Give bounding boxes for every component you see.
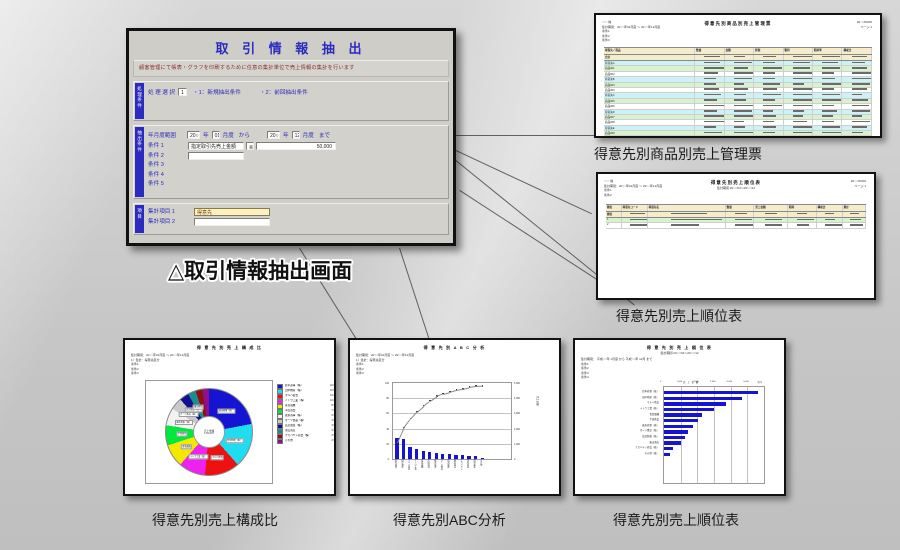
table-cell: 順位 (606, 212, 622, 217)
cell-value-placeholder (763, 126, 775, 128)
table-cell (695, 66, 724, 70)
cell-value-placeholder (704, 62, 719, 64)
cell-value-placeholder (852, 78, 871, 80)
cell-value-placeholder (704, 88, 718, 90)
document-page: ○○○ 株 集計期間：20○○年01月度 ～ 20○○年12月度 条件1 条件2… (596, 15, 880, 136)
cell-value-placeholder (852, 88, 867, 90)
table-cell (842, 66, 871, 70)
cell-value-placeholder (793, 78, 813, 80)
thumbnail-abc-analysis[interactable]: 得 意 先 別 A B C 分 析 集計期間：20○○年01月度 ～ 20○○年… (348, 338, 561, 496)
cell-value-placeholder (793, 56, 813, 58)
head-line-1: 集計期間：20○○年01月度 ～ 20○○年12月度 (131, 353, 189, 358)
table-cell: 合計 (604, 55, 695, 60)
axis-tick-x: イトウ工業 (413, 459, 417, 470)
table-cell (842, 104, 871, 108)
table-cell (784, 72, 813, 76)
cell-value-placeholder (852, 83, 870, 85)
table-cell (725, 126, 754, 130)
table-cell (754, 61, 783, 65)
cell-value-placeholder (735, 213, 747, 215)
condition-label-1: 条件 1 (148, 142, 188, 150)
cell-value-placeholder (735, 224, 755, 226)
cell-value-placeholder (822, 121, 834, 123)
axis-tick-x: 0 (660, 381, 661, 383)
table-cell (817, 218, 843, 222)
cell-value-placeholder (797, 219, 814, 221)
table-cell (784, 120, 813, 124)
cell-value-placeholder (704, 72, 718, 74)
cell-value-placeholder (704, 67, 724, 69)
table-cell (695, 104, 724, 108)
table-cell: 商品005 (604, 99, 695, 103)
from-month-suffix: 月度 (223, 131, 234, 139)
cell-value-placeholder (734, 72, 754, 74)
axis-tick-right: 1,000 (514, 443, 520, 446)
cell-value-placeholder (734, 62, 752, 64)
cell-value-placeholder (734, 88, 748, 90)
total-item-label-1: 集計項目 1 (148, 208, 190, 216)
table-cell (813, 77, 842, 81)
cell-value-placeholder (763, 83, 780, 85)
cell-value-placeholder (704, 115, 724, 117)
pareto-line-segment (469, 386, 476, 388)
table-cell (622, 218, 648, 222)
head-line-4: 条件2 (604, 193, 662, 198)
table-cell: 商品008 (604, 120, 695, 124)
panel-extract-condition: 抽出条件 年月度範囲 20○○ 年 01 月度 から 20○○ 年 12 月度 … (133, 125, 449, 199)
cell-value-placeholder (852, 72, 872, 74)
process-select-label: 処 理 選 択 (148, 88, 175, 96)
table-cell (817, 212, 843, 217)
table-cell (648, 223, 726, 227)
to-year-input[interactable]: 20○○ (267, 131, 280, 139)
table-cell (695, 72, 724, 76)
cell-value-placeholder (734, 126, 745, 128)
cell-value-placeholder (630, 213, 645, 215)
pie-center-hole: 売上金額1,234,567 (193, 416, 225, 448)
column-header: 構成比 (817, 205, 843, 211)
cell-value-placeholder (763, 99, 774, 101)
cell-value-placeholder (763, 88, 776, 90)
transaction-extract-window[interactable]: 取 引 情 報 抽 出 顧客管理にて帳表・グラフを印刷するために任意の集計単位で… (126, 28, 456, 246)
pie-slice-label: 鈴木商事（株） (217, 409, 235, 414)
table-cell (784, 104, 813, 108)
to-month-suffix: 月度 (303, 131, 314, 139)
table-cell (842, 115, 871, 119)
pie-slice-label: 森永商事（株） (175, 420, 193, 425)
from-year-input[interactable]: 20○○ (187, 131, 200, 139)
cell-value-placeholder (793, 105, 813, 107)
table-cell (754, 223, 788, 227)
table-cell (784, 126, 813, 130)
table-cell (725, 120, 754, 124)
cell-value-placeholder (793, 67, 810, 69)
condition-op-1[interactable]: ≧ (246, 142, 254, 150)
cell-value-placeholder (671, 224, 699, 226)
table-cell (784, 131, 813, 135)
rank-bar (664, 397, 742, 400)
total-item-input-1[interactable]: 得意先 (194, 208, 270, 216)
table-cell (726, 218, 755, 222)
cell-value-placeholder (852, 121, 871, 123)
cell-value-placeholder (852, 67, 867, 69)
cell-value-placeholder (793, 83, 804, 85)
from-year-suffix: 年 (203, 131, 209, 139)
cell-value-placeholder (765, 213, 777, 215)
doc-title: 得 意 先 別 A B C 分 析 (350, 345, 559, 351)
pareto-line-segment (417, 406, 424, 412)
cell-value-placeholder (852, 115, 863, 117)
axis-tick-x: ナカバヤシ (459, 459, 463, 470)
table-cell (842, 88, 871, 92)
table-cell (648, 212, 726, 217)
cell-value-placeholder (852, 126, 868, 128)
table-cell (695, 110, 724, 114)
rank-bar (664, 391, 758, 394)
axis-tick-right: 4,000 (514, 397, 520, 400)
cell-value-placeholder (734, 110, 753, 112)
rank-category-label: 鈴木商事（株） (642, 389, 659, 393)
table-cell: 得意先B (604, 77, 695, 81)
cell-value-placeholder (793, 88, 812, 90)
document-page: 得 意 先 別 売 上 順 位 表 集計期間 20○○/01～20○○/12 集… (575, 340, 784, 494)
cell-value-placeholder (763, 132, 775, 134)
rank-bar (664, 441, 681, 444)
doc-right-lines: 20○○/00/00 ページ 1 (857, 20, 872, 30)
cell-value-placeholder (822, 62, 837, 64)
table-cell (695, 115, 724, 119)
condition-label-list: 条件 1 条件 2 条件 3 条件 4 条件 5 (148, 142, 188, 188)
gridline (393, 444, 511, 445)
axis-tick-right: 5,000 (514, 382, 520, 385)
axis-tick-x: 5,000 (743, 381, 748, 383)
caption-abc-analysis: 得意先別ABC分析 (393, 510, 506, 530)
gridline (393, 429, 511, 430)
table-cell (784, 83, 813, 87)
cell-value-placeholder (793, 62, 810, 64)
table-cell (788, 223, 817, 227)
table-cell (813, 115, 842, 119)
cell-value-placeholder (763, 110, 773, 112)
axis-tick-x: マルハ商会 (406, 459, 410, 470)
cell-value-placeholder (763, 78, 775, 80)
table-cell (695, 77, 724, 81)
cell-value-placeholder (793, 115, 803, 117)
axis-tick-x: 甲府商会 (465, 459, 469, 468)
table-cell: 商品009 (604, 131, 695, 135)
right-line-2: ページ 1 (851, 184, 866, 189)
cell-value-placeholder (735, 219, 752, 221)
table-cell: 得意先C (604, 93, 695, 97)
table-cell (842, 131, 871, 135)
axis-tick-left: 0 (388, 458, 389, 461)
table-cell (784, 110, 813, 114)
cell-value-placeholder (822, 78, 835, 80)
cell-value-placeholder (822, 83, 842, 85)
pie-slice-label: イトウ工業（株） (188, 454, 208, 459)
rank-bar (664, 419, 698, 422)
cell-value-placeholder (822, 115, 833, 117)
table-cell (725, 93, 754, 97)
table-cell: 商品002 (604, 72, 695, 76)
table-cell (813, 66, 842, 70)
rank-bar (664, 413, 702, 416)
cell-value-placeholder (793, 132, 812, 134)
cell-value-placeholder (630, 224, 648, 226)
table-cell (842, 55, 871, 60)
cell-value-placeholder (763, 56, 776, 58)
process-option-previous[interactable]: ・2：前回抽出条件 (260, 88, 308, 96)
connector-line-to-sheet (456, 135, 596, 136)
table-cell: 得意先D (604, 110, 695, 114)
window-description: 顧客管理にて帳表・グラフを印刷するために任意の集計単位で売上情報の集計を行います (133, 60, 449, 77)
column-header: 粗利 (788, 205, 817, 211)
pie-slice-label: 青島電機 (181, 444, 192, 449)
table-cell (784, 61, 813, 65)
table-cell (842, 83, 871, 87)
cell-value-placeholder (765, 224, 783, 226)
cell-value-placeholder (704, 105, 724, 107)
rank-category-label: 森永商事（株） (642, 423, 659, 427)
pareto-x-labels: 鈴木商事田中物産マルハ商会イトウ工業青島電機平田商会森永商事オーツ食品長沢製菓東… (392, 459, 510, 494)
cell-value-placeholder (704, 132, 721, 134)
axis-tick-left: 100 (385, 382, 389, 385)
table-cell: 商品007 (604, 115, 695, 119)
cell-value-placeholder (763, 62, 775, 64)
axis-tick-left: 80 (386, 397, 389, 400)
process-option-new[interactable]: ・1：新規抽出条件 (193, 88, 241, 96)
pareto-bar (408, 447, 411, 459)
table-cell (842, 72, 871, 76)
thumbnail-sales-management-sheet[interactable]: ○○○ 株 集計期間：20○○年01月度 ～ 20○○年12月度 条件1 条件2… (594, 13, 882, 138)
table-cell (813, 55, 842, 60)
right-line-2: ページ 1 (857, 25, 872, 30)
rank-category-label: 青島電機 (649, 412, 659, 416)
cell-value-placeholder (734, 99, 746, 101)
gridline-vertical (731, 387, 732, 483)
rank-bar (664, 430, 688, 433)
panel-tab-extract: 抽出条件 (135, 127, 144, 197)
window-title: 取 引 情 報 抽 出 (133, 34, 449, 60)
process-select-input[interactable]: 1 (178, 88, 187, 96)
thumbnail-sales-rank-bar[interactable]: 得 意 先 別 売 上 順 位 表 集計期間 20○○/01～20○○/12 集… (573, 338, 786, 496)
cell-value-placeholder (852, 56, 867, 58)
cell-value-placeholder (793, 99, 813, 101)
table-cell (725, 99, 754, 103)
pie-slice-label: 東山商店 (193, 405, 204, 410)
cell-value-placeholder (793, 110, 804, 112)
cell-value-placeholder (734, 121, 744, 123)
doc-title: 得意先別商品別売上管理票 (596, 21, 880, 27)
pareto-bar (415, 449, 418, 459)
rank-category-label: 平田商会 (649, 417, 659, 421)
pie-chart-frame: 売上金額1,234,567鈴木商事（株）田中物産（株）マルハ商会イトウ工業（株）… (145, 380, 273, 484)
legend-label: その他 (285, 439, 329, 444)
table-cell (725, 88, 754, 92)
cell-value-placeholder (734, 83, 744, 85)
cell-value-placeholder (763, 67, 782, 69)
caption-sales-composition-pie: 得意先別売上構成比 (152, 510, 278, 530)
cell-value-placeholder (852, 105, 869, 107)
axis-tick-left: 20 (386, 443, 389, 446)
document-page: 得 意 先 別 A B C 分 析 集計期間：20○○年01月度 ～ 20○○年… (350, 340, 559, 494)
table-cell (784, 55, 813, 60)
table-cell (695, 126, 724, 130)
table-cell (695, 99, 724, 103)
axis-tick-x: 西村産業 (472, 459, 476, 468)
cell-value-placeholder (671, 219, 721, 221)
table-cell (695, 83, 724, 87)
table-cell: 2 (606, 223, 622, 227)
cell-value-placeholder (734, 105, 754, 107)
table-cell (725, 131, 754, 135)
table-cell (725, 61, 754, 65)
table-cell: 商品004 (604, 88, 695, 92)
table-cell: 1 (606, 218, 622, 222)
table-cell (813, 120, 842, 124)
connector-line-diag-1 (459, 190, 611, 289)
thumbnail-sales-composition-pie[interactable]: 得 意 先 別 売 上 構 成 比 集計期間：20○○年01月度 ～ 20○○年… (123, 338, 336, 496)
panel-process-condition: 処理条件 処 理 選 択 1 ・1：新規抽出条件 ・2：前回抽出条件 (133, 81, 449, 121)
caption-sales-management-sheet: 得意先別商品別売上管理票 (594, 144, 762, 164)
table-cell (695, 88, 724, 92)
table-cell: 商品006 (604, 104, 695, 108)
panel-tab-item: 項目 (135, 205, 144, 233)
cell-value-placeholder (852, 132, 864, 134)
cell-value-placeholder (825, 224, 842, 226)
table-cell (842, 126, 871, 130)
cell-value-placeholder (734, 56, 745, 58)
table-cell (754, 77, 783, 81)
thumbnail-sales-rank-report[interactable]: ○○○ 株 集計期間：20○○年01月度 ～ 20○○年12月度 条件1 条件2… (596, 172, 876, 300)
axis-tick-x: 4,000 (727, 381, 732, 383)
doc-right-lines: 20○○/00/00 ページ 1 (851, 179, 866, 189)
cell-value-placeholder (704, 110, 716, 112)
doc-head-lines: 集計期間：20○○年01月度 ～ 20○○年12月度 1）集計：得意先区分 条件… (131, 353, 189, 376)
column-header: 累計 (843, 205, 866, 211)
table-cell (754, 99, 783, 103)
cell-value-placeholder (852, 62, 865, 64)
column-header: 構成比 (842, 48, 871, 54)
table-cell (725, 115, 754, 119)
pareto-line-segment (449, 390, 456, 392)
table-cell (648, 218, 726, 222)
table-cell: 得意先A (604, 61, 695, 65)
column-header: 数量 (726, 205, 755, 211)
condition-field-1[interactable]: 指定取引先売上金額 (188, 142, 244, 150)
date-range-label: 年月度範囲 (148, 131, 176, 139)
cell-value-placeholder (704, 126, 716, 128)
table-cell (788, 212, 817, 217)
cell-value-placeholder (734, 78, 752, 80)
table-cell (784, 66, 813, 70)
condition-label-3: 条件 3 (148, 161, 188, 169)
column-header: 順位 (606, 205, 622, 211)
rank-bar (664, 436, 685, 439)
condition-field-2[interactable] (188, 152, 244, 160)
pareto-line-segment (462, 387, 469, 389)
head-line-5: 条件4 (581, 375, 652, 380)
gridline-vertical (747, 387, 748, 483)
to-word: まで (319, 131, 330, 139)
pareto-line-segment (403, 419, 410, 428)
table-header-row: 得意先／商品数量金額原価粗利粗利率構成比 (604, 47, 872, 55)
cell-value-placeholder (797, 224, 809, 226)
table-cell (754, 115, 783, 119)
table-cell (788, 218, 817, 222)
caption-sales-rank-report: 得意先別売上順位表 (616, 306, 742, 326)
rank-bar (664, 453, 670, 456)
cell-value-placeholder (704, 99, 716, 101)
cell-value-placeholder (850, 213, 859, 215)
hbar-x-ticks: 01,0002,0003,0004,0005,000 (663, 381, 763, 387)
cell-value-placeholder (852, 99, 868, 101)
table-cell (813, 104, 842, 108)
cell-value-placeholder (704, 56, 720, 58)
pareto-right-axis-label: 売上金額 (536, 396, 540, 406)
table-cell (725, 83, 754, 87)
pie-chart: 売上金額1,234,567鈴木商事（株）田中物産（株）マルハ商会イトウ工業（株）… (165, 388, 253, 476)
doc-subtitle: 集計期間 20○○/01～20○○/12 (575, 351, 784, 355)
cell-value-placeholder (734, 115, 754, 117)
pie-legend: 鈴木商事（株）22.0田中物産（株）16.5マルハ商会13.0イトウ工業（株）1… (277, 384, 335, 444)
table-cell (784, 93, 813, 97)
axis-tick-x: 2,000 (693, 381, 698, 383)
column-header: 売上金額 (754, 205, 788, 211)
head-line-5: 条件3 (356, 371, 414, 376)
table-cell: 商品003 (604, 83, 695, 87)
to-month-input[interactable]: 12 (292, 131, 300, 139)
cell-value-placeholder (704, 121, 724, 123)
legend-item: その他2.5 (277, 439, 335, 444)
condition-value-1[interactable]: 50,000 (256, 142, 336, 150)
legend-swatch (277, 439, 283, 444)
table-cell (726, 223, 755, 227)
cell-value-placeholder (734, 132, 754, 134)
cell-value-placeholder (822, 94, 839, 96)
from-month-input[interactable]: 01 (212, 131, 220, 139)
table-cell (813, 93, 842, 97)
axis-tick-x: 長沢製菓 (445, 459, 449, 468)
rank-category-label: ナカバヤシ商会（株） (635, 445, 659, 449)
axis-tick-x: 平田商会 (426, 459, 430, 468)
column-header: 得意先名 (648, 205, 726, 211)
table-cell (754, 218, 788, 222)
column-header: 数量 (695, 48, 724, 54)
rank-category-label: イトウ工業（株） (640, 406, 659, 410)
table-cell (754, 72, 783, 76)
table-cell (842, 77, 871, 81)
cell-value-placeholder (793, 72, 812, 74)
table-cell (813, 110, 842, 114)
table-cell (695, 93, 724, 97)
cell-value-placeholder (825, 219, 835, 221)
column-header: 得意先コード (622, 205, 648, 211)
total-item-label-2: 集計項目 2 (148, 218, 190, 226)
doc-subtitle: 集計期間 20○○/01～20○○/12 (598, 186, 874, 190)
cell-value-placeholder (822, 67, 840, 69)
total-item-input-2[interactable] (194, 218, 270, 226)
table-cell (842, 120, 871, 124)
condition-label-4: 条件 4 (148, 171, 188, 179)
axis-tick-x: 森永商事 (432, 459, 436, 468)
axis-tick-x: 青島電機 (419, 459, 423, 468)
poster-canvas: 取 引 情 報 抽 出 顧客管理にて帳表・グラフを印刷するために任意の集計単位で… (0, 0, 900, 550)
rank-bar (664, 447, 673, 450)
table-cell (813, 131, 842, 135)
axis-tick-x: 3,000 (710, 381, 715, 383)
cell-value-placeholder (763, 105, 782, 107)
